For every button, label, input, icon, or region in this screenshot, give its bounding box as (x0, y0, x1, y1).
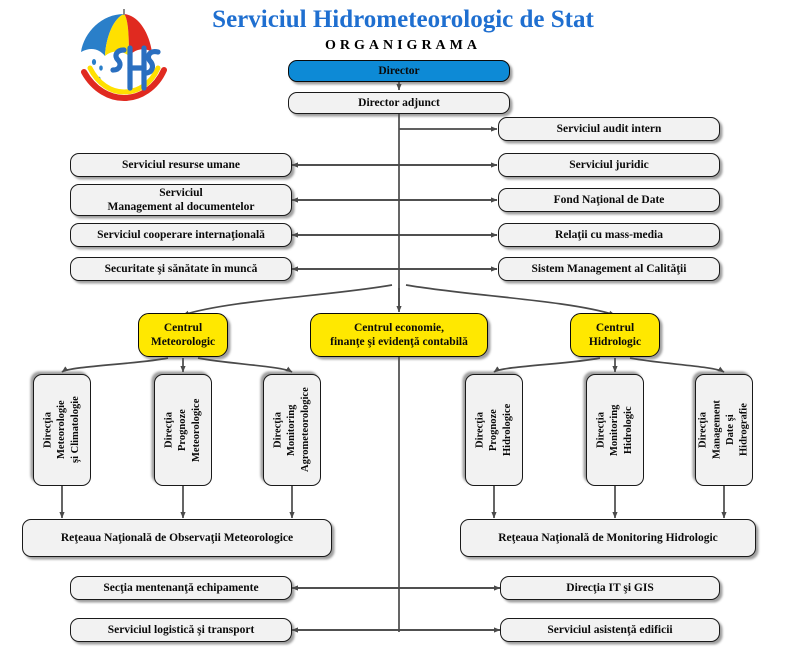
node-directia-it-gis[interactable]: Direcţia IT şi GIS (500, 576, 720, 600)
node-directia-prognoze-hidrologice[interactable]: DirecţiaPrognozeHidrologice (465, 374, 523, 486)
node-sectia-mentenanta-echipamente[interactable]: Secţia mentenanţă echipamente (70, 576, 292, 600)
shs-umbrella-logo (72, 6, 176, 102)
node-directia-meteorologie-climatologie[interactable]: DirecţiaMeteorologieşi Climatologie (33, 374, 91, 486)
node-fond-national-date[interactable]: Fond Naţional de Date (498, 188, 720, 212)
node-reteaua-monitoring-hidrologic[interactable]: Reţeaua Naţională de Monitoring Hidrolog… (460, 519, 756, 557)
node-directia-management-date-hidrografie[interactable]: DirecţiaManagementDate şiHidrografie (695, 374, 753, 486)
page-title: Serviciul Hidrometeorologic de Stat (178, 6, 628, 34)
node-resurse-umane[interactable]: Serviciul resurse umane (70, 153, 292, 177)
node-juridic[interactable]: Serviciul juridic (498, 153, 720, 177)
node-relatii-mass-media[interactable]: Relaţii cu mass-media (498, 223, 720, 247)
node-directia-monitoring-hidrologic[interactable]: DirecţiaMonitoringHidrologic (586, 374, 644, 486)
node-securitate-sanatate-munca[interactable]: Securitate şi sănătate în muncă (70, 257, 292, 281)
node-serviciul-asistenta-edificii[interactable]: Serviciul asistenţă edificii (500, 618, 720, 642)
node-centrul-meteorologic[interactable]: CentrulMeteorologic (138, 313, 228, 357)
node-directia-prognoze-meteorologice[interactable]: DirecţiaPrognozeMeteorologice (154, 374, 212, 486)
organigrama-canvas: Serviciul Hidrometeorologic de Stat ORGA… (0, 0, 800, 648)
node-cooperare-internationala[interactable]: Serviciul cooperare internaţională (70, 223, 292, 247)
node-centrul-economie[interactable]: Centrul economie,finanţe şi evidenţă con… (310, 313, 488, 357)
node-directia-monitoring-agrometeorologice[interactable]: DirecţiaMonitoringAgrometeorologice (263, 374, 321, 486)
node-director[interactable]: Director (288, 60, 510, 82)
node-director-adjunct[interactable]: Director adjunct (288, 92, 510, 114)
node-audit-intern[interactable]: Serviciul audit intern (498, 117, 720, 141)
node-serviciul-logistica-transport[interactable]: Serviciul logistică şi transport (70, 618, 292, 642)
node-sistem-management-calitatii[interactable]: Sistem Management al Calităţii (498, 257, 720, 281)
node-management-documentelor[interactable]: ServiciulManagement al documentelor (70, 184, 292, 216)
page-subtitle: ORGANIGRAMA (178, 38, 628, 54)
node-centrul-hidrologic[interactable]: CentrulHidrologic (570, 313, 660, 357)
node-reteaua-observatii-meteorologice[interactable]: Reţeaua Naţională de Observaţii Meteorol… (22, 519, 332, 557)
